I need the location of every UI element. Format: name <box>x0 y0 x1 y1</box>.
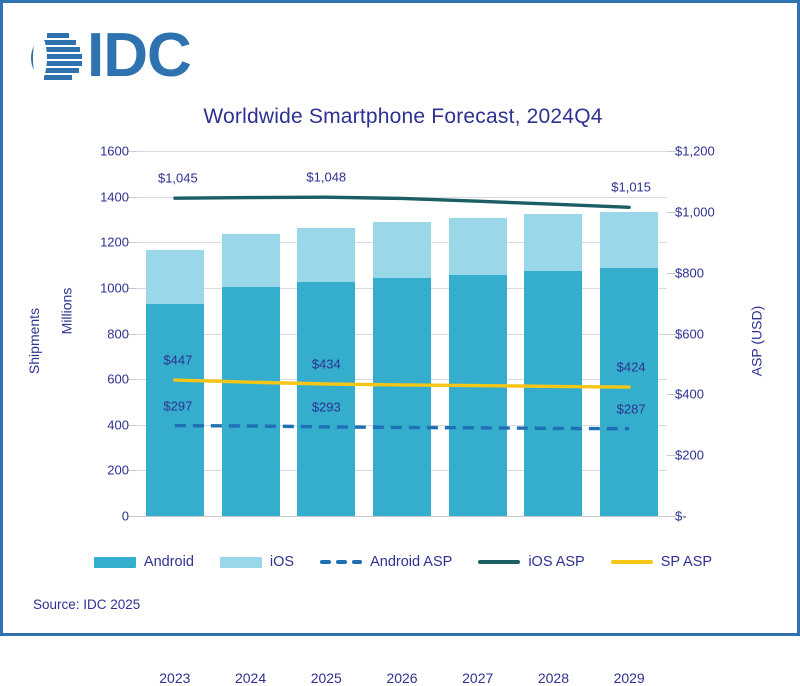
right-axis-title: ASP (USD) <box>748 306 764 377</box>
data-label: $1,015 <box>611 180 651 195</box>
bar-segment-ios[interactable] <box>222 234 280 287</box>
y2-axis-tick-label: $600 <box>675 326 755 341</box>
tick-mark <box>128 197 137 198</box>
data-label: $1,045 <box>158 171 198 186</box>
legend-item[interactable]: iOS <box>220 554 294 570</box>
idc-logo: IDC <box>31 29 221 89</box>
data-label: $297 <box>163 398 192 413</box>
bar-column[interactable] <box>146 151 204 516</box>
plot-area: 2023202420252026202720282029$1,045$1,048… <box>137 151 667 516</box>
bar-segment-ios[interactable] <box>600 212 658 269</box>
chart-title: Worldwide Smartphone Forecast, 2024Q4 <box>3 105 800 129</box>
globe-stripe <box>47 33 69 38</box>
legend-item[interactable]: iOS ASP <box>478 554 584 570</box>
data-label: $287 <box>617 401 646 416</box>
legend-item[interactable]: Android ASP <box>320 554 452 570</box>
bar-segment-ios[interactable] <box>146 250 204 304</box>
data-label: $293 <box>312 399 341 414</box>
logo-wordmark: IDC <box>87 25 191 87</box>
legend-item[interactable]: SP ASP <box>611 554 712 570</box>
y2-axis-tick-label: $1,200 <box>675 144 755 159</box>
y-axis-tick-label: 0 <box>59 509 129 524</box>
y2-axis-tick-label: $400 <box>675 387 755 402</box>
y-axis-tick-label: 1600 <box>59 144 129 159</box>
bar-segment-android[interactable] <box>373 278 431 516</box>
data-label: $434 <box>312 356 341 371</box>
x-axis-tick-label: 2028 <box>524 670 582 686</box>
source-note: Source: IDC 2025 <box>33 597 140 612</box>
globe-icon <box>31 31 85 85</box>
x-axis-tick-label: 2024 <box>222 670 280 686</box>
x-axis-tick-label: 2026 <box>373 670 431 686</box>
bar-column[interactable] <box>297 151 355 516</box>
legend-item[interactable]: Android <box>94 554 194 570</box>
data-label: $1,048 <box>306 170 346 185</box>
legend-label: Android ASP <box>370 554 452 570</box>
chart-legend: AndroidiOSAndroid ASPiOS ASPSP ASP <box>3 554 800 570</box>
y2-axis-tick-label: $- <box>675 509 755 524</box>
y-axis-tick-label: 200 <box>59 463 129 478</box>
tick-mark <box>128 151 137 152</box>
y-axis-tick-label: 400 <box>59 417 129 432</box>
bar-column[interactable] <box>524 151 582 516</box>
tick-mark <box>128 516 137 517</box>
bar-segment-ios[interactable] <box>373 222 431 278</box>
y-axis-tick-label: 600 <box>59 372 129 387</box>
legend-swatch <box>94 557 136 568</box>
globe-stripe <box>44 75 72 80</box>
bar-segment-ios[interactable] <box>297 228 355 282</box>
legend-label: iOS <box>270 554 294 570</box>
y-axis-tick-label: 1400 <box>59 189 129 204</box>
x-axis-tick-label: 2023 <box>146 670 204 686</box>
bar-segment-android[interactable] <box>449 275 507 516</box>
bar-column[interactable] <box>373 151 431 516</box>
bar-column[interactable] <box>600 151 658 516</box>
y-axis-tick-label: 1200 <box>59 235 129 250</box>
x-axis-tick-label: 2027 <box>449 670 507 686</box>
legend-label: SP ASP <box>661 554 712 570</box>
legend-label: Android <box>144 554 194 570</box>
bar-segment-android[interactable] <box>222 287 280 516</box>
tick-mark <box>128 379 137 380</box>
left-axis-title: Shipments <box>26 308 42 374</box>
bar-segment-ios[interactable] <box>524 214 582 271</box>
bar-segment-android[interactable] <box>524 271 582 516</box>
gridline <box>137 516 667 517</box>
legend-label: iOS ASP <box>528 554 584 570</box>
data-label: $424 <box>617 360 646 375</box>
bar-segment-ios[interactable] <box>449 218 507 274</box>
globe-arc <box>31 31 50 85</box>
bar-segment-android[interactable] <box>600 268 658 516</box>
data-label: $447 <box>163 353 192 368</box>
y-axis-tick-label: 800 <box>59 326 129 341</box>
tick-mark <box>128 242 137 243</box>
y2-axis-tick-label: $1,000 <box>675 204 755 219</box>
legend-swatch <box>220 557 262 568</box>
y2-axis-tick-label: $200 <box>675 448 755 463</box>
y2-axis-tick-label: $800 <box>675 265 755 280</box>
tick-mark <box>128 334 137 335</box>
x-axis-tick-label: 2025 <box>297 670 355 686</box>
bar-column[interactable] <box>222 151 280 516</box>
y-axis-tick-label: 1000 <box>59 280 129 295</box>
x-axis-tick-label: 2029 <box>600 670 658 686</box>
tick-mark <box>128 425 137 426</box>
chart-figure: IDC Worldwide Smartphone Forecast, 2024Q… <box>0 0 800 636</box>
bar-column[interactable] <box>449 151 507 516</box>
tick-mark <box>128 288 137 289</box>
tick-mark <box>128 470 137 471</box>
